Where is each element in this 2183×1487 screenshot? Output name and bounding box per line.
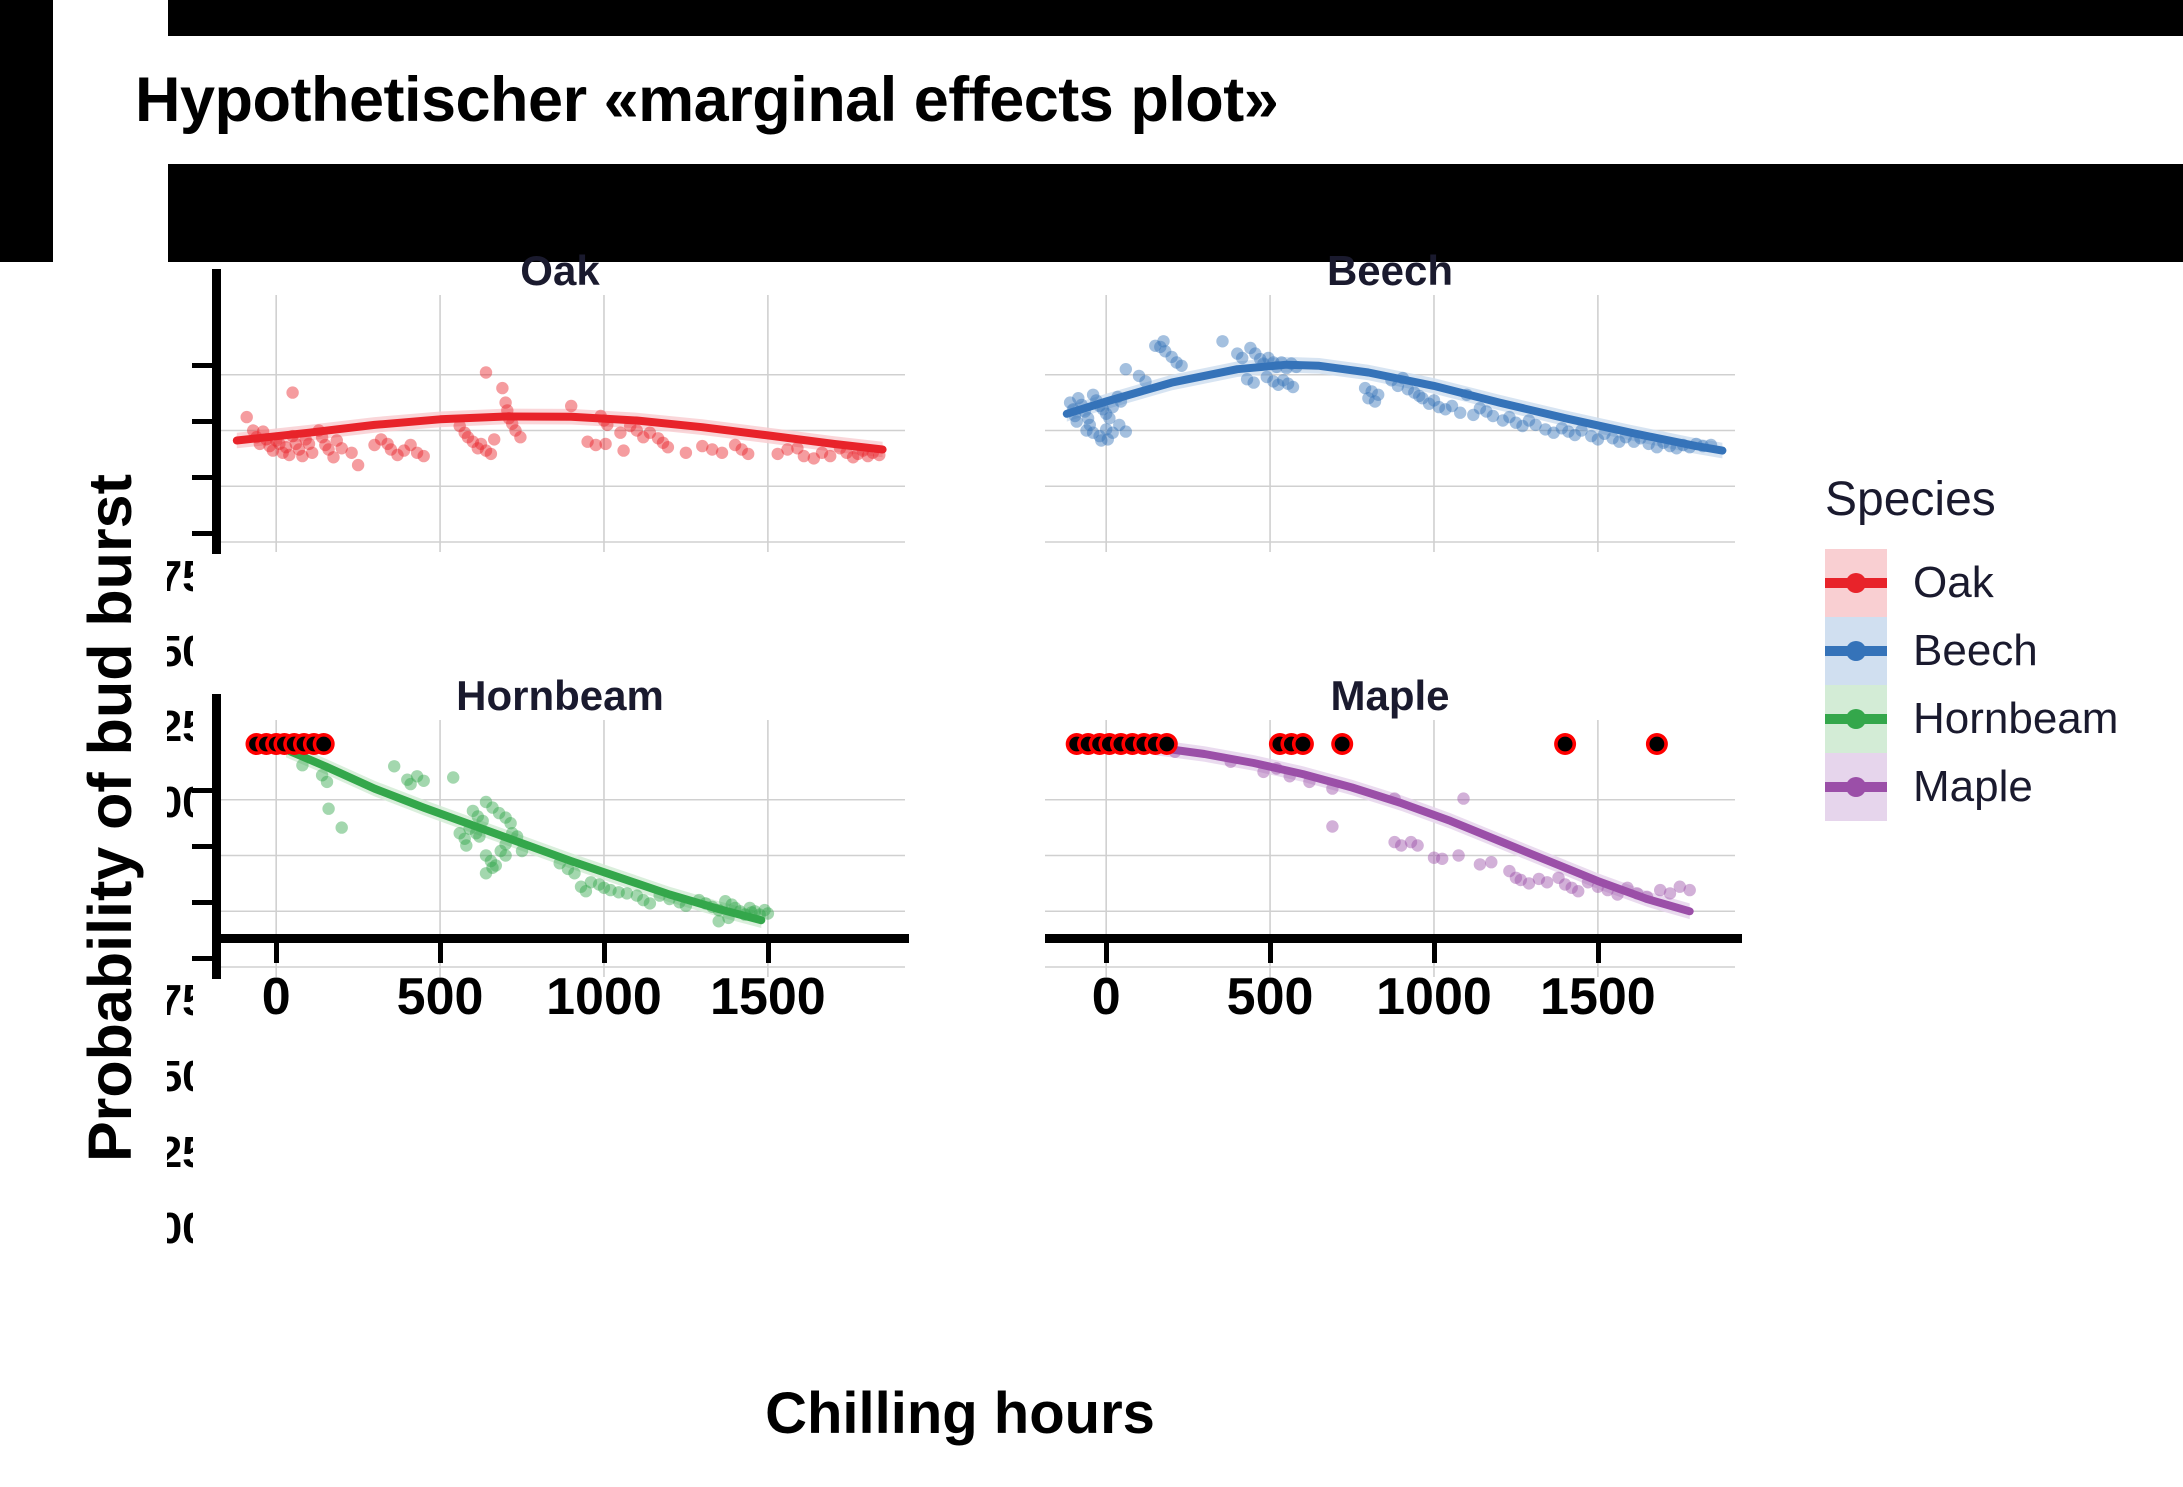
scatter-point [1369, 395, 1381, 407]
y-axis-tick-mark [192, 844, 214, 849]
scatter-point [1411, 839, 1423, 851]
scatter-point [388, 760, 400, 772]
legend-title: Species [1825, 472, 2175, 527]
scatter-point [488, 433, 500, 445]
scatter-point [418, 450, 430, 462]
y-tick-label: 0.00 [167, 1204, 193, 1262]
legend-key-icon [1825, 617, 1887, 685]
legend-items: OakBeechHornbeamMaple [1825, 549, 2175, 821]
scatter-point [480, 366, 492, 378]
x-axis-tick-mark [1432, 943, 1437, 963]
y-axis-tick-mark [192, 475, 214, 480]
scatter-point [565, 400, 577, 412]
legend-item-label: Maple [1913, 762, 2033, 812]
scatter-point [1684, 884, 1696, 896]
scatter-point [345, 447, 357, 459]
scatter-point [680, 447, 692, 459]
x-tick-label: 0 [1016, 967, 1196, 1027]
scatter-point [418, 775, 430, 787]
x-axis-tick-mark [1268, 943, 1273, 963]
scatter-point [716, 447, 728, 459]
y-tick-label: 0.50 [167, 1052, 193, 1110]
y-axis-tick-mark [192, 531, 214, 536]
facet-title-hornbeam: Hornbeam [215, 672, 905, 720]
facet-panel-oak: Oak [215, 247, 905, 552]
scatter-point [1287, 381, 1299, 393]
x-axis-spine-right [1045, 934, 1742, 943]
scatter-point [1572, 885, 1584, 897]
banner-top-black-bar [168, 0, 2183, 36]
scatter-point [1133, 370, 1145, 382]
highlight-point [1296, 737, 1311, 752]
scatter-point [1071, 415, 1083, 427]
scatter-point [1175, 360, 1187, 372]
legend-item-beech[interactable]: Beech [1825, 617, 2175, 685]
fit-line [1155, 747, 1689, 911]
scatter-point [486, 862, 498, 874]
scatter-point [499, 849, 511, 861]
figure-area: Probability of bud burst Chilling hours … [0, 262, 2183, 1487]
scatter-point [322, 803, 334, 815]
x-axis-tick-mark [602, 943, 607, 963]
x-axis-tick-mark [438, 943, 443, 963]
scatter-point [568, 867, 580, 879]
highlight-point [1650, 737, 1665, 752]
legend-item-maple[interactable]: Maple [1825, 753, 2175, 821]
x-tick-label: 1000 [514, 967, 694, 1027]
legend: Species OakBeechHornbeamMaple [1825, 472, 2175, 821]
scatter-point [336, 821, 348, 833]
y-tick-label: 0.00 [167, 778, 193, 836]
y-axis-tick-mark [192, 419, 214, 424]
legend-key-icon [1825, 685, 1887, 753]
scatter-point [1326, 820, 1338, 832]
scatter-point [241, 411, 253, 423]
scatter-point [1454, 407, 1466, 419]
facet-title-beech: Beech [1045, 247, 1735, 295]
y-tick-label: 0.75 [167, 552, 193, 610]
scatter-point [352, 459, 364, 471]
x-tick-label: 0 [186, 967, 366, 1027]
scatter-point [1457, 792, 1469, 804]
y-tick-label: 0.25 [167, 1128, 193, 1186]
x-tick-label: 1500 [678, 967, 858, 1027]
scatter-point [1474, 858, 1486, 870]
x-axis-label: Chilling hours [460, 1380, 1460, 1447]
x-tick-label: 1000 [1344, 967, 1524, 1027]
scatter-point [1236, 352, 1248, 364]
scatter-point [742, 448, 754, 460]
legend-item-oak[interactable]: Oak [1825, 549, 2175, 617]
y-axis-tick-mark [192, 900, 214, 905]
scatter-point [1485, 856, 1497, 868]
legend-key-icon [1825, 753, 1887, 821]
x-axis-tick-mark [274, 943, 279, 963]
facet-title-oak: Oak [215, 247, 905, 295]
scatter-point [514, 431, 526, 443]
scatter-point [1436, 853, 1448, 865]
y-axis-label: Probability of bud burst [75, 522, 155, 1162]
scatter-point [1541, 876, 1553, 888]
highlight-point [316, 737, 331, 752]
y-axis-tick-mark [192, 956, 214, 961]
scatter-point [1216, 335, 1228, 347]
x-tick-label: 500 [1180, 967, 1360, 1027]
scatter-point [321, 776, 333, 788]
scatter-point [286, 386, 298, 398]
scatter-point [662, 441, 674, 453]
x-axis-tick-mark [1104, 943, 1109, 963]
x-tick-label: 500 [350, 967, 530, 1027]
x-tick-label: 1500 [1508, 967, 1688, 1027]
y-axis-tick-mark [192, 788, 214, 793]
legend-item-hornbeam[interactable]: Hornbeam [1825, 685, 2175, 753]
highlight-point [1159, 737, 1174, 752]
x-axis-tick-mark [766, 943, 771, 963]
plot-area-oak [215, 295, 905, 552]
highlight-point [1558, 737, 1573, 752]
banner-left-black-bar [0, 0, 53, 262]
facet-title-maple: Maple [1045, 672, 1735, 720]
scatter-point [496, 382, 508, 394]
scatter-point [485, 448, 497, 460]
scatter-point [617, 444, 629, 456]
x-axis-tick-mark [1596, 943, 1601, 963]
scatter-point [306, 447, 318, 459]
scatter-point [1120, 425, 1132, 437]
plot-area-beech [1045, 295, 1735, 552]
facet-panel-beech: Beech [1045, 247, 1735, 552]
scatter-point [644, 897, 656, 909]
legend-key-icon [1825, 549, 1887, 617]
facet-panel-hornbeam: Hornbeam [215, 672, 905, 977]
y-axis-tick-mark [192, 363, 214, 368]
scatter-point [824, 450, 836, 462]
page-title: Hypothetischer «marginal effects plot» [135, 44, 1695, 156]
legend-item-label: Hornbeam [1913, 694, 2118, 744]
scatter-point [1452, 849, 1464, 861]
highlight-point [1335, 737, 1350, 752]
scatter-point [1120, 363, 1132, 375]
y-tick-label: 0.25 [167, 702, 193, 760]
scatter-point [599, 438, 611, 450]
x-axis-spine-left [212, 934, 909, 943]
y-tick-label: 0.50 [167, 627, 193, 685]
y-axis-spine-top [212, 269, 221, 554]
scatter-point [1157, 335, 1169, 347]
scatter-point [1248, 376, 1260, 388]
legend-item-label: Beech [1913, 626, 2038, 676]
legend-item-label: Oak [1913, 558, 1994, 608]
scatter-point [1102, 433, 1114, 445]
scatter-point [447, 771, 459, 783]
facet-panel-maple: Maple [1045, 672, 1735, 977]
scatter-point [460, 839, 472, 851]
